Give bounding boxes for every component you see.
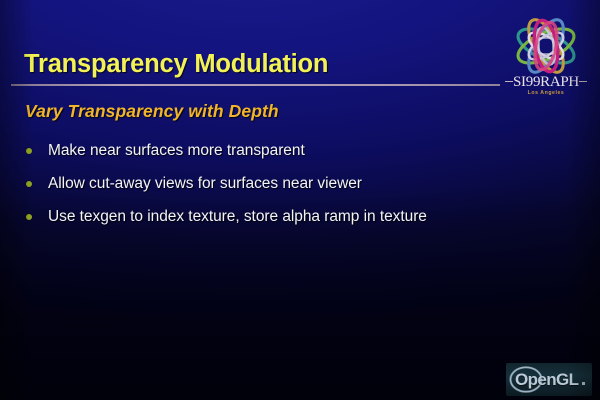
list-item-label: Make near surfaces more transparent	[48, 141, 305, 160]
list-item: Allow cut-away views for surfaces near v…	[26, 174, 582, 207]
bullet-dot-icon	[26, 214, 32, 220]
siggraph-wordmark-text: SI99RAPH	[513, 74, 579, 90]
list-item: Use texgen to index texture, store alpha…	[26, 207, 582, 240]
list-item-label: Allow cut-away views for surfaces near v…	[48, 174, 362, 193]
bullet-dot-icon	[26, 181, 32, 187]
page-title: Transparency Modulation	[24, 50, 328, 79]
opengl-logo: OpenGL	[506, 363, 592, 396]
wordmark-dash-left	[505, 81, 513, 83]
title-divider-rule	[11, 84, 500, 86]
list-item: Make near surfaces more transparent	[26, 141, 582, 174]
bullet-list: Make near surfaces more transparent Allo…	[26, 141, 582, 240]
wordmark-dash-right	[579, 81, 587, 83]
opengl-wordmark: OpenGL	[515, 370, 578, 390]
siggraph-city-label: Los Angeles	[496, 90, 596, 96]
list-item-label: Use texgen to index texture, store alpha…	[48, 207, 427, 226]
presentation-slide: Transparency Modulation Vary Transparenc…	[0, 0, 600, 400]
slide-subtitle: Vary Transparency with Depth	[25, 101, 279, 122]
siggraph-rings-icon	[496, 14, 596, 78]
opengl-trademark-dot	[582, 382, 585, 385]
bullet-dot-icon	[26, 148, 32, 154]
siggraph-logo: SI99RAPH Los Angeles	[496, 14, 596, 106]
